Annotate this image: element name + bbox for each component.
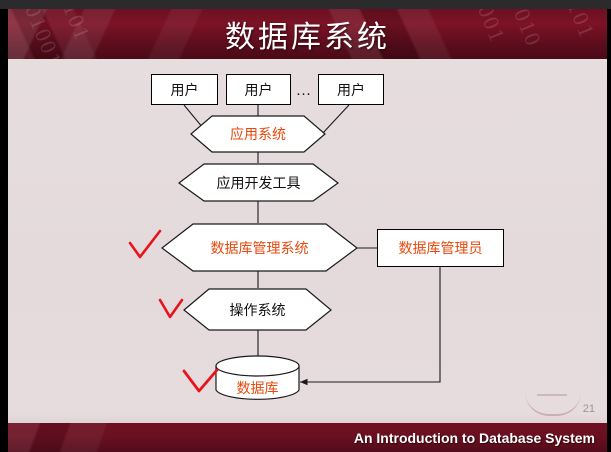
node-label: 用户 (337, 80, 365, 100)
node-label: 数据库管理员 (399, 238, 483, 258)
ellipsis-label: … (296, 83, 312, 100)
top-strip (0, 0, 611, 9)
node-database[interactable]: 数据库 (215, 355, 300, 401)
footer-bar: An Introduction to Database System (8, 423, 607, 452)
slide-body: 用户 用户 … 用户 应用系统 应用开发工具 数据库管理系 (8, 59, 607, 414)
footer-gap (8, 414, 607, 423)
node-app-dev-tools[interactable]: 应用开发工具 (178, 163, 339, 202)
slide-canvas: 101001 0101 1001 010 1101 数据库系统 (0, 0, 611, 452)
node-label: 用户 (245, 80, 273, 100)
left-border (0, 9, 8, 452)
node-dba[interactable]: 数据库管理员 (377, 229, 504, 267)
title-banner: 101001 0101 1001 010 1101 数据库系统 (8, 9, 607, 59)
red-check-mark-icon-1 (126, 229, 164, 263)
node-user-3[interactable]: 用户 (318, 74, 384, 105)
node-user-2[interactable]: 用户 (226, 74, 291, 105)
slide-title: 数据库系统 (8, 9, 607, 59)
page-number: 21 (583, 403, 595, 415)
node-label: 用户 (171, 80, 199, 100)
footer-title: An Introduction to Database System (354, 430, 607, 446)
node-dbms[interactable]: 数据库管理系统 (161, 223, 358, 272)
right-border (607, 9, 611, 452)
node-operating-system[interactable]: 操作系统 (183, 288, 332, 331)
node-user-1[interactable]: 用户 (151, 74, 218, 105)
node-application-system[interactable]: 应用系统 (190, 115, 326, 153)
